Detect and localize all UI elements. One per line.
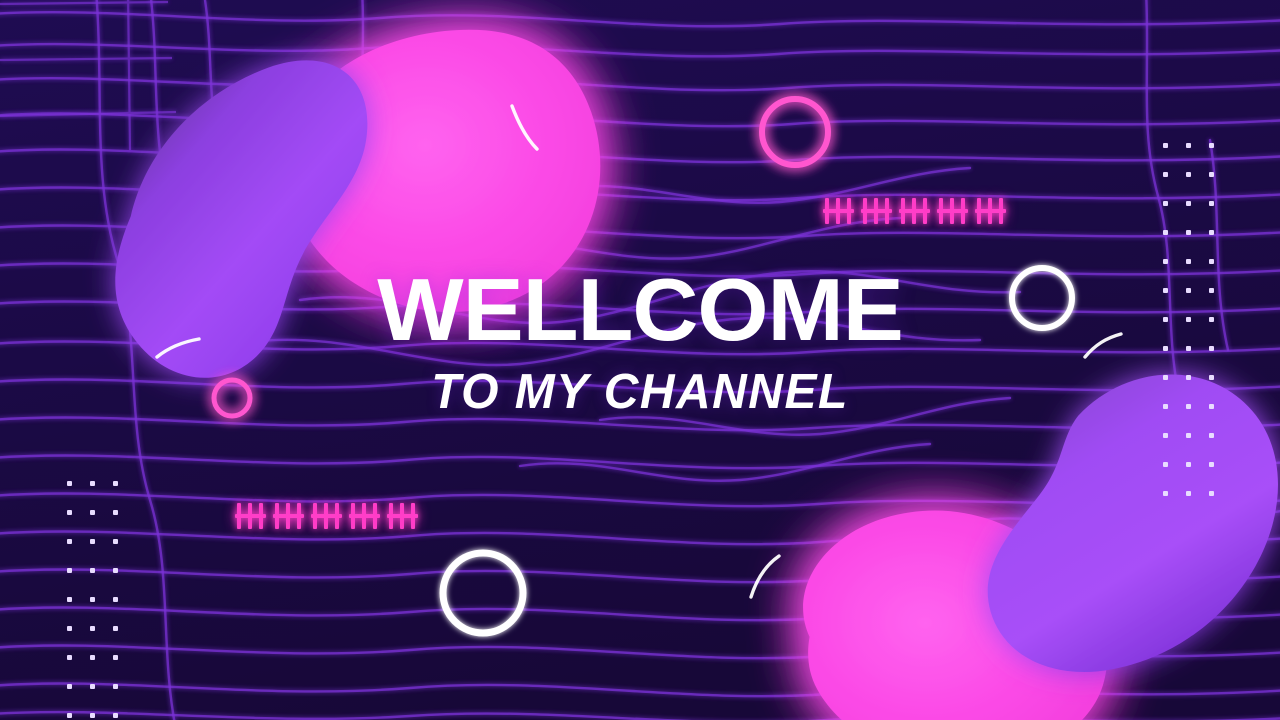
tally-cross — [387, 514, 418, 518]
hero-text-block: WELLCOME TO MY CHANNEL — [0, 268, 1280, 417]
dot — [67, 568, 72, 573]
tally-group — [938, 198, 968, 224]
dot — [1209, 143, 1214, 148]
dot — [1163, 462, 1168, 467]
dot — [1163, 143, 1168, 148]
dot — [1209, 172, 1214, 177]
dot — [1163, 259, 1168, 264]
tally-row-top — [824, 198, 1014, 224]
dot — [67, 713, 72, 718]
dot — [1186, 433, 1191, 438]
dot — [90, 539, 95, 544]
dot — [1209, 462, 1214, 467]
dot — [1186, 201, 1191, 206]
dot — [1186, 259, 1191, 264]
dot — [1209, 259, 1214, 264]
tally-cross — [861, 209, 892, 213]
dot — [113, 684, 118, 689]
dot — [113, 481, 118, 486]
tally-group — [824, 198, 854, 224]
dot — [1163, 230, 1168, 235]
dot — [67, 626, 72, 631]
dot — [1209, 230, 1214, 235]
dot — [67, 684, 72, 689]
tally-group — [274, 503, 304, 529]
tally-group — [236, 503, 266, 529]
tally-group — [976, 198, 1006, 224]
tally-group — [862, 198, 892, 224]
tally-group — [900, 198, 930, 224]
welcome-banner: WELLCOME TO MY CHANNEL — [0, 0, 1280, 720]
dot — [90, 481, 95, 486]
tally-cross — [937, 209, 968, 213]
tally-row-bottom — [236, 503, 426, 529]
dot — [1163, 201, 1168, 206]
dot — [1163, 433, 1168, 438]
tally-cross — [823, 209, 854, 213]
dot — [1186, 230, 1191, 235]
dot — [113, 655, 118, 660]
dot — [67, 539, 72, 544]
dot — [113, 568, 118, 573]
dot — [67, 655, 72, 660]
dot — [90, 626, 95, 631]
page-title: WELLCOME — [0, 268, 1280, 352]
dot — [113, 597, 118, 602]
tally-cross — [273, 514, 304, 518]
dot — [90, 713, 95, 718]
dot — [90, 597, 95, 602]
dot — [90, 655, 95, 660]
tally-cross — [975, 209, 1006, 213]
dot — [90, 684, 95, 689]
dot — [1186, 462, 1191, 467]
page-subtitle: TO MY CHANNEL — [13, 368, 1267, 417]
tally-cross — [899, 209, 930, 213]
tally-group — [312, 503, 342, 529]
dot — [113, 539, 118, 544]
dot-grid-left — [67, 481, 118, 720]
dot — [113, 510, 118, 515]
dot — [113, 713, 118, 718]
tally-cross — [349, 514, 380, 518]
dot — [1186, 172, 1191, 177]
dot — [90, 510, 95, 515]
dot — [67, 510, 72, 515]
tally-group — [388, 503, 418, 529]
dot — [1209, 491, 1214, 496]
dot — [90, 568, 95, 573]
dot — [1163, 491, 1168, 496]
dot — [113, 626, 118, 631]
dot — [1209, 433, 1214, 438]
dot — [67, 597, 72, 602]
dot — [67, 481, 72, 486]
dot — [1209, 201, 1214, 206]
tally-cross — [311, 514, 342, 518]
dot — [1186, 491, 1191, 496]
tally-group — [350, 503, 380, 529]
tally-cross — [235, 514, 266, 518]
dot — [1163, 172, 1168, 177]
dot — [1186, 143, 1191, 148]
